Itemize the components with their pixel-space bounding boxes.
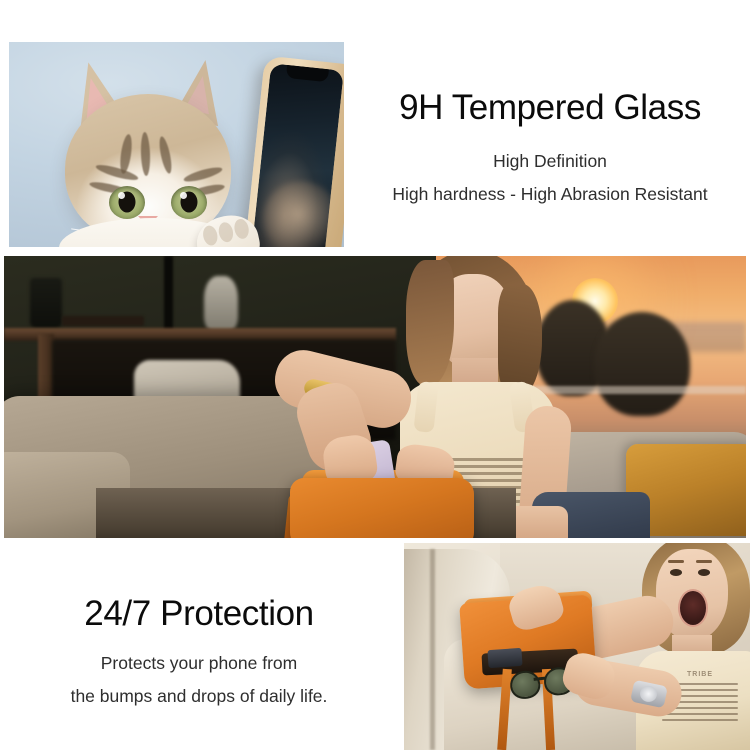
bottom-subline-1: Protects your phone from [101, 654, 297, 673]
fur-stripe [95, 162, 140, 183]
kitten-eye-right [171, 186, 207, 219]
shelf-jar [30, 278, 62, 328]
top-headline: 9H Tempered Glass [399, 88, 701, 128]
woman-eyebrow [696, 560, 712, 563]
bag-snatch-photo: TRIBE [404, 543, 750, 750]
sunglass-lens [509, 669, 542, 700]
woman-eyebrow [668, 560, 684, 563]
headline-block-bottom: 24/7 Protection Protects your phone from… [8, 560, 390, 720]
shelf-vase [204, 276, 238, 332]
cat-phone-photo [9, 42, 344, 247]
phone-notch [285, 65, 328, 82]
watch-face [639, 684, 659, 703]
woman-hair-side [498, 284, 542, 396]
shelf-post [164, 256, 173, 334]
shelf-book [62, 316, 144, 326]
woman-eye [670, 569, 682, 576]
fur-stripe [140, 132, 151, 176]
fur-stripe [157, 135, 174, 174]
orange-handbag [290, 478, 474, 538]
paw-toe [233, 218, 251, 240]
paw-toe [201, 224, 219, 246]
armchair-seam [430, 549, 435, 750]
bottom-headline: 24/7 Protection [84, 594, 313, 634]
headline-block-top: 9H Tempered Glass High Definition High h… [352, 48, 748, 244]
paw-toe [217, 221, 235, 243]
eye-glint [118, 192, 125, 199]
bottom-subline-2: the bumps and drops of daily life. [71, 687, 328, 706]
eye-glint [180, 192, 187, 199]
living-room-photo [4, 256, 746, 538]
product-feature-collage: 9H Tempered Glass High Definition High h… [0, 0, 750, 750]
phone-in-bag [487, 648, 522, 668]
woman-open-mouth [678, 589, 708, 627]
woman-hair-front [406, 260, 454, 386]
top-subline-2: High hardness - High Abrasion Resistant [392, 185, 707, 204]
kitten [51, 60, 281, 247]
top-subline-1: High Definition [493, 152, 607, 171]
woman-eye [698, 569, 710, 576]
kitten-eye-left [109, 186, 145, 219]
fur-stripe [183, 165, 224, 185]
tree-silhouette [594, 312, 690, 416]
